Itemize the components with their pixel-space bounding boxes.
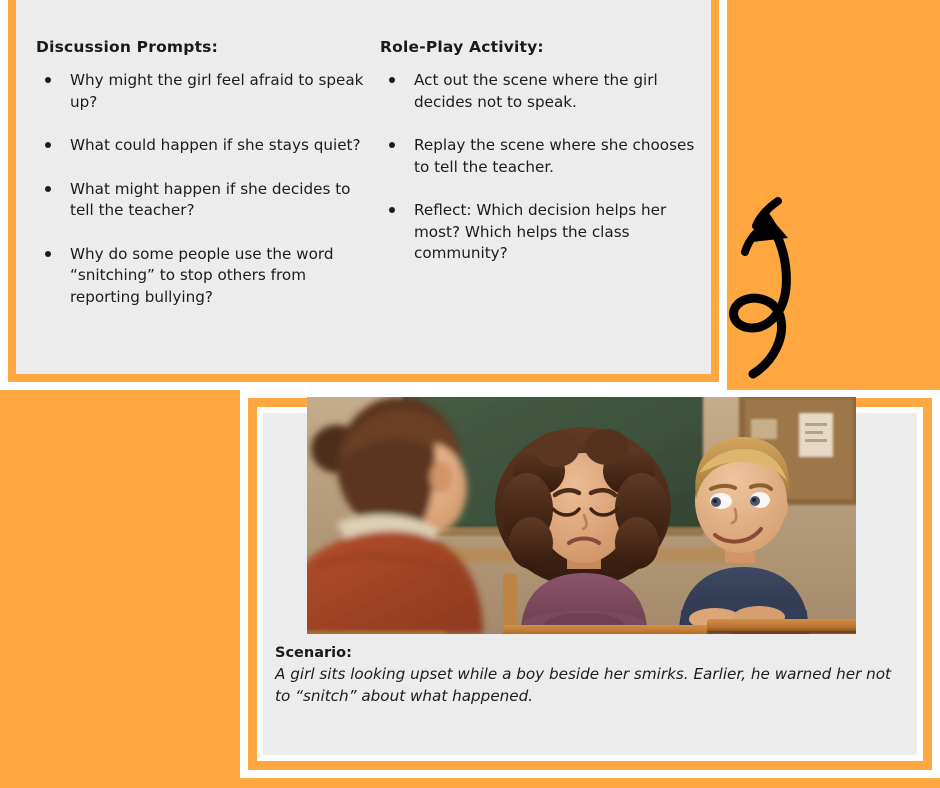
discussion-prompts-heading: Discussion Prompts:: [36, 38, 368, 56]
classroom-scene-illustration: [307, 397, 856, 634]
role-play-activity-list: Act out the scene where the girl decides…: [380, 70, 706, 265]
bullet-icon: [389, 77, 395, 83]
list-item-text: What might happen if she decides to tell…: [70, 180, 350, 220]
list-item-text: Why might the girl feel afraid to speak …: [70, 71, 363, 111]
discussion-prompts-list: Why might the girl feel afraid to speak …: [36, 70, 368, 309]
list-item: What might happen if she decides to tell…: [36, 179, 368, 222]
list-item: Replay the scene where she chooses to te…: [380, 135, 706, 178]
bullet-icon: [45, 142, 51, 148]
scenario-text-block: Scenario: A girl sits looking upset whil…: [275, 645, 907, 707]
list-item: Act out the scene where the girl decides…: [380, 70, 706, 113]
list-item: Why do some people use the word “snitchi…: [36, 244, 368, 309]
discussion-prompts-column: Discussion Prompts: Why might the girl f…: [16, 38, 376, 382]
list-item: Reflect: Which decision helps her most? …: [380, 200, 706, 265]
bullet-icon: [45, 251, 51, 257]
list-item: What could happen if she stays quiet?: [36, 135, 368, 157]
list-item-text: Reflect: Which decision helps her most? …: [414, 201, 666, 262]
bullet-icon: [45, 186, 51, 192]
bullet-icon: [45, 77, 51, 83]
scenario-label: Scenario:: [275, 645, 907, 661]
role-play-activity-column: Role-Play Activity: Act out the scene wh…: [376, 38, 706, 382]
discussion-card-content: Discussion Prompts: Why might the girl f…: [16, 38, 710, 382]
curved-loop-arrow-icon: [712, 176, 882, 386]
list-item-text: Why do some people use the word “snitchi…: [70, 245, 334, 306]
role-play-activity-heading: Role-Play Activity:: [380, 38, 706, 56]
scenario-description: A girl sits looking upset while a boy be…: [275, 663, 907, 707]
list-item-text: What could happen if she stays quiet?: [70, 136, 361, 154]
bullet-icon: [389, 207, 395, 213]
scenario-card-content: Scenario: A girl sits looking upset whil…: [263, 397, 923, 757]
list-item: Why might the girl feel afraid to speak …: [36, 70, 368, 113]
list-item-text: Replay the scene where she chooses to te…: [414, 136, 694, 176]
bullet-icon: [389, 142, 395, 148]
list-item-text: Act out the scene where the girl decides…: [414, 71, 658, 111]
